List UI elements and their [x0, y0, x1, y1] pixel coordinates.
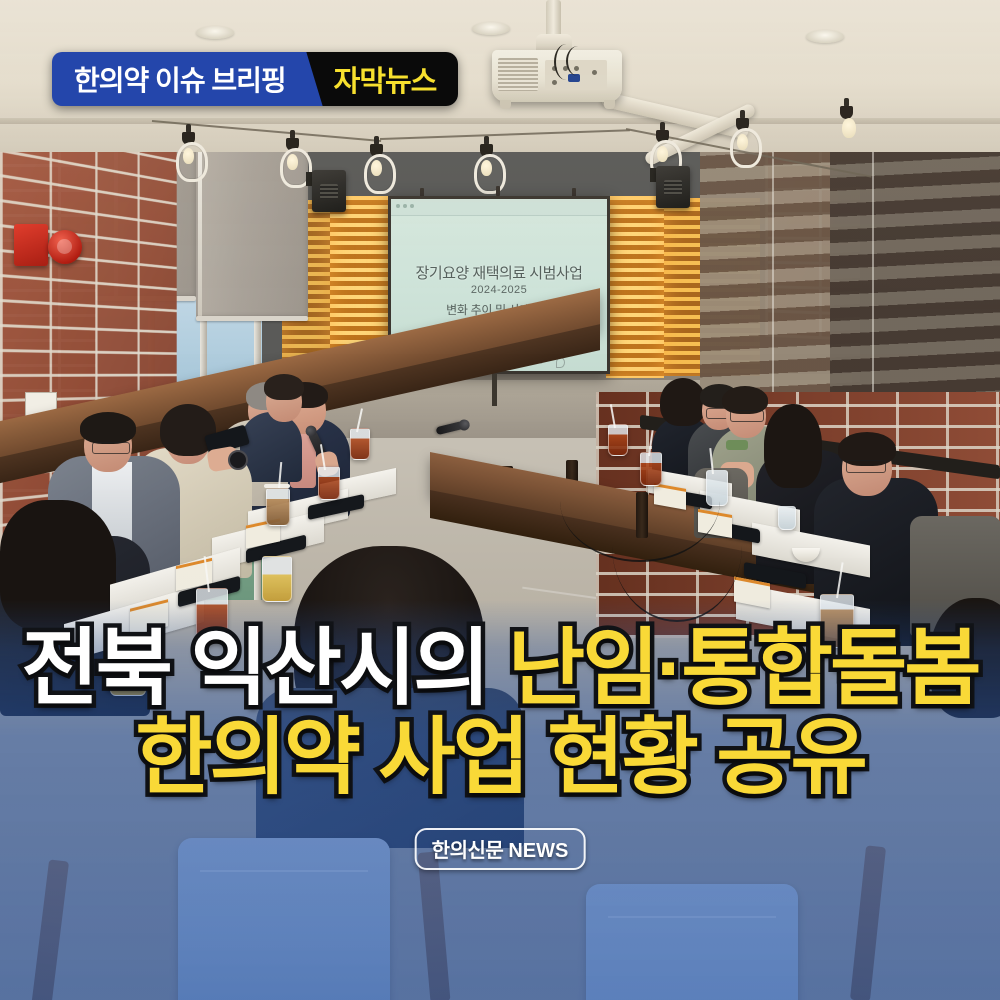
- blind-bottom-bar: [196, 316, 308, 321]
- news-card: 장기요양 재택의료 시범사업 2024-2025 변화 추이 및 사례보고 익산…: [0, 0, 1000, 1000]
- juice-cup: [262, 556, 292, 602]
- fire-alarm-box: [14, 224, 48, 266]
- lamp-bulb: [371, 160, 382, 176]
- window-blind-orange: [606, 196, 664, 378]
- slide-toolbar: [391, 199, 607, 216]
- projector-cable: [566, 46, 590, 76]
- wall-speaker: [312, 170, 346, 212]
- headline-line-1-yellow: 난임·통합돌봄: [508, 621, 979, 715]
- headline-line-2: 한의약 사업 현황 공유: [0, 717, 1000, 798]
- ceiling-downlight: [196, 26, 234, 39]
- news-watermark: 한의신문 NEWS: [415, 828, 586, 870]
- ceiling-downlight: [806, 30, 844, 43]
- projector-port: [592, 70, 597, 75]
- program-badge: 한의약 이슈 브리핑 자막뉴스: [52, 52, 458, 106]
- wall-speaker: [656, 166, 690, 208]
- lamp-bulb: [737, 134, 748, 150]
- meeting-chair: [586, 884, 798, 1000]
- projector-foot: [500, 100, 511, 109]
- screen-hook: [496, 186, 500, 196]
- lamp-bulb: [481, 160, 492, 176]
- lamp-bulb: [842, 118, 856, 138]
- watermark-english: NEWS: [508, 840, 568, 862]
- lamp-bulb: [657, 146, 668, 162]
- iced-coffee-cup: [266, 488, 290, 526]
- projector-port: [552, 80, 557, 85]
- headline-block: 전북 익산시의 난임·통합돌봄 한의약 사업 현황 공유: [0, 628, 1000, 797]
- person-hair: [660, 378, 706, 426]
- person-hair: [0, 500, 116, 630]
- eyeglasses: [730, 410, 764, 422]
- projector-vent: [498, 58, 538, 91]
- iced-tea-glass: [350, 428, 370, 460]
- headline-line-2-yellow: 한의약 사업 현황 공유: [135, 710, 865, 804]
- lamp-bulb: [287, 154, 298, 170]
- ceiling-downlight: [472, 22, 510, 35]
- screen-stand: [492, 374, 497, 406]
- fire-alarm-bell: [48, 230, 82, 264]
- watermark-korean: 한의신문: [432, 840, 504, 862]
- lamp-bulb: [183, 148, 194, 164]
- lamp-socket: [840, 106, 853, 119]
- eyeglasses: [846, 460, 886, 473]
- person-hair: [264, 374, 304, 400]
- projector-foot: [604, 100, 615, 109]
- speaker-grille: [664, 180, 682, 195]
- headline-line-1: 전북 익산시의 난임·통합돌봄: [0, 628, 1000, 709]
- eyeglasses: [92, 442, 130, 454]
- badge-category: 한의약 이슈 브리핑: [52, 52, 306, 106]
- slide-window-dots: [396, 204, 414, 208]
- tea-pot: [778, 506, 796, 530]
- iced-tea-glass: [318, 466, 340, 500]
- chair-seam: [200, 870, 368, 872]
- person-hair: [764, 404, 822, 488]
- badge-type: 자막뉴스: [304, 52, 459, 106]
- floor-cable: [612, 470, 742, 622]
- speaker-grille: [320, 184, 338, 199]
- slide-title: 장기요양 재택의료 시범사업: [391, 262, 607, 283]
- headline-line-1-white: 전북 익산시의: [21, 621, 487, 715]
- green-bottle: [726, 440, 748, 450]
- chair-seam: [608, 916, 776, 918]
- meeting-chair: [178, 838, 390, 1000]
- person-hair: [80, 412, 136, 444]
- wristwatch: [228, 450, 248, 470]
